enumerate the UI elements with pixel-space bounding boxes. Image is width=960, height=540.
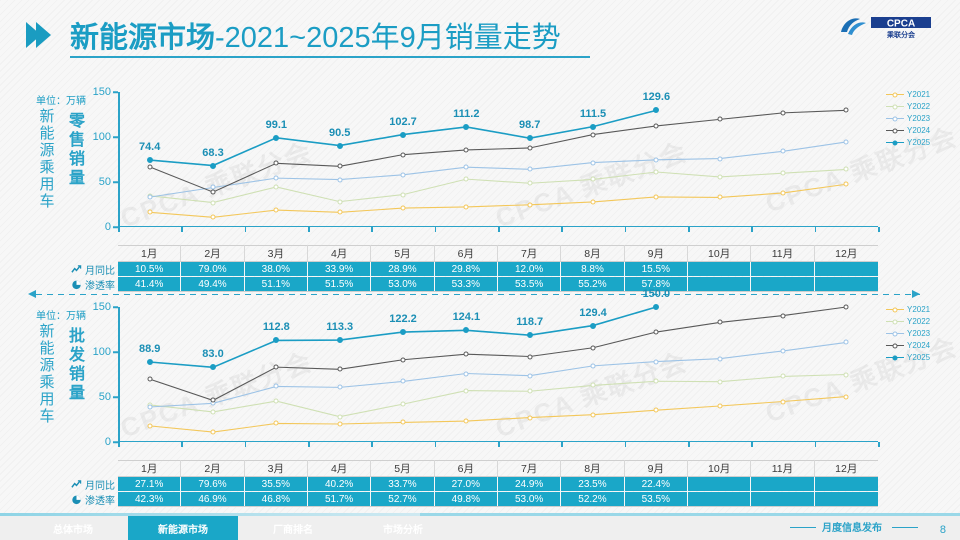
table-header-cell: 12月 [815,245,878,261]
table-cell: 41.4% [118,277,181,291]
data-point-y2025 [337,143,343,149]
table-row-label-text: 渗透率 [85,277,115,292]
data-point-y2024 [781,313,786,318]
x-axis-tick-mark [245,227,247,232]
table-header-cell: 4月 [308,245,371,261]
table-cell [751,262,814,276]
legend-item-y2022[interactable]: Y2022 [886,100,930,112]
series-line-y2024 [150,110,847,192]
data-point-y2021 [527,202,532,207]
data-point-y2021 [591,412,596,417]
data-point-y2025 [210,364,216,370]
table-row-label: 月同比 [71,477,115,491]
table-header-cell: 4月 [308,460,371,476]
data-label: 112.8 [263,321,290,333]
data-point-y2024 [401,152,406,157]
table-header-row: 1月2月3月4月5月6月7月8月9月10月11月12月 [118,245,878,261]
data-point-y2024 [274,161,279,166]
legend-swatch [886,333,904,334]
data-point-y2023 [147,404,152,409]
legend-item-y2024[interactable]: Y2024 [886,339,930,351]
table-cell: 46.9% [181,492,244,506]
svg-text:乘联分会: 乘联分会 [886,30,916,39]
table-header-cell: 9月 [625,460,688,476]
table-data-row: 月同比27.1%79.6%35.5%40.2%33.7%27.0%24.9%23… [118,477,878,491]
data-point-y2021 [844,394,849,399]
data-point-y2025 [653,304,659,310]
legend-item-y2021[interactable]: Y2021 [886,88,930,100]
footer-tab-3[interactable]: 厂商排名 [238,516,348,540]
data-point-y2025 [147,157,153,163]
data-point-y2025 [273,135,279,141]
data-point-y2025 [653,107,659,113]
data-point-y2022 [274,184,279,189]
table-header-cell: 6月 [435,245,498,261]
legend-label: Y2021 [907,90,930,99]
table-row-label: 月同比 [71,262,115,276]
data-point-y2022 [781,171,786,176]
data-label: 111.5 [580,108,606,120]
table-row-label-text: 月同比 [85,262,115,277]
legend-label: Y2025 [907,138,930,147]
x-axis-tick-mark [498,442,500,447]
legend-marker [893,104,898,109]
footer-rule-right [892,527,918,528]
table-cell: 51.1% [245,277,308,291]
legend-swatch [886,130,904,131]
section-divider [36,294,920,295]
data-point-y2022 [401,402,406,407]
metrics-table: 1月2月3月4月5月6月7月8月9月10月11月12月月同比10.5%79.0%… [118,245,878,291]
data-point-y2025 [400,329,406,335]
data-label: 118.7 [516,316,543,328]
svg-text:CPCA: CPCA [887,18,915,29]
data-label: 88.9 [139,343,160,355]
data-point-y2025 [463,327,469,333]
vertical-label-metric: 批发销量 [64,327,90,403]
data-point-y2025 [273,337,279,343]
legend-item-y2021[interactable]: Y2021 [886,303,930,315]
legend-item-y2023[interactable]: Y2023 [886,327,930,339]
data-point-y2022 [717,174,722,179]
slide: 新能源市场-2021~2025年9月销量走势 CPCA 乘联分会 CPCA 乘联… [0,0,960,540]
table-bottom-rule [118,291,878,292]
y-axis-tick-label: 0 [105,436,111,448]
data-point-y2023 [527,167,532,172]
series-line-y2022 [150,375,847,417]
table-cell: 42.3% [118,492,181,506]
table-cell [688,277,751,291]
table-header-cell: 7月 [498,245,561,261]
x-axis-tick-mark [561,227,563,232]
table-header-cell: 9月 [625,245,688,261]
data-point-y2022 [211,200,216,205]
table-cell: 28.9% [371,262,434,276]
x-axis-tick-mark [308,442,310,447]
legend-marker [893,140,898,145]
y-axis-tick-label: 100 [93,131,111,143]
data-point-y2023 [274,384,279,389]
legend-marker [893,331,898,336]
table-header-cell: 1月 [118,460,181,476]
data-point-y2024 [147,164,152,169]
data-point-y2023 [147,195,152,200]
y-axis-tick-label: 150 [93,86,111,98]
table-cell [815,277,878,291]
table-cell: 33.9% [308,262,371,276]
table-header-cell: 5月 [371,245,434,261]
x-axis-tick-mark [181,227,183,232]
table-cell: 38.0% [245,262,308,276]
table-header-cell: 3月 [245,245,308,261]
data-point-y2024 [337,164,342,169]
table-header-cell: 6月 [435,460,498,476]
page-title-rest: -2021~2025年9月销量走势 [215,22,561,54]
data-label: 74.4 [139,141,160,153]
page-title-bold: 新能源市场 [70,22,215,54]
chart-series-layer [118,307,878,442]
table-cell: 79.0% [181,262,244,276]
data-point-y2023 [337,177,342,182]
data-point-y2024 [717,117,722,122]
legend-swatch [886,106,904,107]
table-header-cell: 10月 [688,245,751,261]
x-axis-tick-mark [815,442,817,447]
table-cell [751,277,814,291]
pie-chart-icon [71,279,82,290]
table-header-cell: 8月 [561,245,624,261]
table-header-cell: 1月 [118,245,181,261]
chart-plot-area: 05010015074.468.399.190.5102.7111.298.71… [118,92,878,227]
table-cell: 22.4% [625,477,688,491]
x-axis-tick-mark [308,227,310,232]
data-point-y2022 [211,409,216,414]
x-axis-tick-mark [245,442,247,447]
unit-label: 单位：万辆 [36,92,86,107]
legend-label: Y2024 [907,341,930,350]
chart-plot-area: 05010015088.983.0112.8113.3122.2124.1118… [118,307,878,442]
legend-swatch [886,118,904,119]
title-underline [70,56,590,58]
table-cell: 52.2% [561,492,624,506]
table-header-cell: 11月 [751,245,814,261]
data-point-y2021 [654,194,659,199]
data-point-y2021 [211,215,216,220]
series-line-y2022 [150,169,847,202]
legend-item-y2025[interactable]: Y2025 [886,351,930,363]
y-axis-tick-label: 50 [99,391,111,403]
data-point-y2022 [527,181,532,186]
table-cell: 46.8% [245,492,308,506]
table-header-cell: 5月 [371,460,434,476]
series-line-y2023 [150,342,847,407]
legend-swatch [886,321,904,322]
table-row-label-text: 渗透率 [85,492,115,507]
data-point-y2022 [401,192,406,197]
table-bottom-rule [118,506,878,507]
data-label: 122.2 [389,313,417,325]
table-header-cell: 11月 [751,460,814,476]
x-axis-tick-mark [688,227,690,232]
data-label: 111.2 [453,108,479,120]
table-data-row: 月同比10.5%79.0%38.0%33.9%28.9%29.8%12.0%8.… [118,262,878,276]
data-point-y2024 [274,365,279,370]
table-cell: 23.5% [561,477,624,491]
data-label: 98.7 [519,119,540,131]
data-label: 90.5 [329,127,350,139]
data-point-y2022 [591,383,596,388]
x-axis-tick-mark [815,227,817,232]
table-cell [815,492,878,506]
table-cell: 55.2% [561,277,624,291]
table-cell [751,492,814,506]
data-point-y2022 [717,379,722,384]
table-cell: 8.8% [561,262,624,276]
data-point-y2022 [654,379,659,384]
data-point-y2025 [210,163,216,169]
data-point-y2021 [337,422,342,427]
table-header-cell: 3月 [245,460,308,476]
data-point-y2025 [400,132,406,138]
data-point-y2023 [464,165,469,170]
footer-tab-1[interactable]: 总体市场 [18,516,128,540]
data-label: 102.7 [389,116,417,128]
data-label: 129.6 [643,91,671,103]
pie-chart-icon [71,494,82,505]
data-point-y2025 [337,337,343,343]
table-header-cell: 10月 [688,460,751,476]
table-data-row: 渗透率42.3%46.9%46.8%51.7%52.7%49.8%53.0%52… [118,492,878,506]
table-cell [688,492,751,506]
data-point-y2021 [717,404,722,409]
x-axis-tick-mark [751,227,753,232]
data-point-y2025 [147,359,153,365]
series-line-y2021 [150,397,847,433]
legend-item-y2025[interactable]: Y2025 [886,136,930,148]
legend-marker [893,128,898,133]
data-point-y2024 [654,330,659,335]
data-point-y2021 [844,182,849,187]
legend-marker [893,355,898,360]
data-point-y2024 [654,123,659,128]
table-cell: 53.5% [498,277,561,291]
vertical-label-metric: 零售销量 [64,112,90,188]
data-label: 129.4 [579,307,607,319]
data-point-y2024 [591,345,596,350]
chevron-double-right-icon [26,22,51,48]
legend-swatch [886,142,904,143]
data-point-y2024 [527,354,532,359]
data-point-y2022 [464,388,469,393]
data-point-y2023 [844,340,849,345]
data-point-y2024 [464,147,469,152]
y-axis-tick-label: 0 [105,221,111,233]
data-point-y2024 [211,190,216,195]
data-point-y2022 [337,414,342,419]
data-point-y2021 [527,415,532,420]
data-point-y2021 [464,204,469,209]
footer-tab-2[interactable]: 新能源市场 [128,516,238,540]
x-axis-tick-mark [878,227,880,232]
legend-label: Y2024 [907,126,930,135]
data-point-y2024 [147,377,152,382]
x-axis-tick-mark [498,227,500,232]
data-point-y2023 [464,371,469,376]
x-axis-tick-mark [751,442,753,447]
legend-label: Y2022 [907,102,930,111]
data-point-y2021 [654,408,659,413]
x-axis-tick-mark [625,227,627,232]
table-data-row: 渗透率41.4%49.4%51.1%51.5%53.0%53.3%53.5%55… [118,277,878,291]
data-label: 150.0 [643,288,671,300]
legend-marker [893,319,898,324]
data-label: 99.1 [266,119,287,131]
data-point-y2024 [844,108,849,113]
data-point-y2023 [591,363,596,368]
table-header-cell: 8月 [561,460,624,476]
data-point-y2022 [781,374,786,379]
data-point-y2022 [844,372,849,377]
data-point-y2023 [781,348,786,353]
table-cell: 15.5% [625,262,688,276]
vertical-label-category: 新能源乘用车 [34,108,60,210]
table-cell: 53.5% [625,492,688,506]
legend-swatch [886,309,904,310]
table-cell: 51.7% [308,492,371,506]
table-header-cell: 7月 [498,460,561,476]
data-point-y2021 [274,208,279,213]
table-row-label: 渗透率 [71,492,115,506]
legend-label: Y2023 [907,114,930,123]
data-point-y2024 [781,110,786,115]
data-point-y2022 [654,170,659,175]
data-point-y2023 [717,356,722,361]
legend-item-y2023[interactable]: Y2023 [886,112,930,124]
y-axis-tick-label: 150 [93,301,111,313]
x-axis-tick-mark [561,442,563,447]
data-point-y2025 [590,323,596,329]
data-point-y2025 [527,135,533,141]
data-point-y2021 [401,206,406,211]
table-cell: 27.1% [118,477,181,491]
metrics-table: 1月2月3月4月5月6月7月8月9月10月11月12月月同比27.1%79.6%… [118,460,878,506]
footer-tab-4[interactable]: 市场分析 [348,516,458,540]
data-point-y2024 [337,367,342,372]
data-point-y2022 [591,177,596,182]
data-point-y2023 [337,385,342,390]
table-cell: 52.7% [371,492,434,506]
data-point-y2021 [274,421,279,426]
table-cell: 51.5% [308,277,371,291]
table-cell: 49.4% [181,277,244,291]
data-point-y2024 [211,398,216,403]
table-header-cell: 2月 [181,245,244,261]
table-header-cell: 2月 [181,460,244,476]
arrow-right-icon [912,290,920,298]
data-point-y2021 [401,420,406,425]
data-point-y2023 [654,157,659,162]
arrow-left-icon [28,290,36,298]
table-cell: 40.2% [308,477,371,491]
table-cell: 33.7% [371,477,434,491]
table-cell [688,262,751,276]
data-point-y2024 [527,145,532,150]
data-point-y2023 [781,149,786,154]
legend-marker [893,92,898,97]
table-row-label-text: 月同比 [85,477,115,492]
x-axis-tick-mark [371,442,373,447]
legend-label: Y2021 [907,305,930,314]
table-cell: 12.0% [498,262,561,276]
data-point-y2021 [147,423,152,428]
data-point-y2025 [590,124,596,130]
legend-swatch [886,357,904,358]
table-cell: 24.9% [498,477,561,491]
legend-item-y2024[interactable]: Y2024 [886,124,930,136]
table-cell: 53.3% [435,277,498,291]
data-label: 124.1 [453,311,481,323]
legend-item-y2022[interactable]: Y2022 [886,315,930,327]
x-axis-tick-mark [371,227,373,232]
x-axis-tick-mark [878,442,880,447]
table-header-cell: 12月 [815,460,878,476]
footer-rule-left [790,527,816,528]
data-point-y2021 [591,199,596,204]
footer-publisher: 月度信息发布 [822,519,882,534]
data-point-y2023 [274,176,279,181]
table-cell [815,477,878,491]
x-axis-tick-mark [118,442,120,447]
data-point-y2024 [717,320,722,325]
x-axis-tick-mark [435,227,437,232]
data-point-y2023 [527,373,532,378]
data-label: 113.3 [326,321,353,333]
data-point-y2023 [654,359,659,364]
series-line-y2021 [150,184,847,217]
table-cell: 49.8% [435,492,498,506]
table-cell: 35.5% [245,477,308,491]
table-cell: 29.8% [435,262,498,276]
legend-label: Y2025 [907,353,930,362]
table-cell [751,477,814,491]
table-cell: 53.0% [498,492,561,506]
data-point-y2024 [401,357,406,362]
chart-series-layer [118,92,878,227]
data-point-y2022 [844,167,849,172]
data-point-y2022 [464,177,469,182]
data-point-y2023 [717,156,722,161]
legend-label: Y2022 [907,317,930,326]
chart-legend: Y2021Y2022Y2023Y2024Y2025 [886,88,930,148]
y-axis-tick-label: 50 [99,176,111,188]
x-axis-tick-mark [688,442,690,447]
legend-label: Y2023 [907,329,930,338]
table-cell: 79.6% [181,477,244,491]
table-cell: 53.0% [371,277,434,291]
data-point-y2021 [337,210,342,215]
data-point-y2023 [401,172,406,177]
data-point-y2023 [401,379,406,384]
x-axis-tick-mark [118,227,120,232]
table-cell [815,262,878,276]
series-line-y2024 [150,307,847,400]
slide-header: 新能源市场-2021~2025年9月销量走势 CPCA 乘联分会 [0,0,960,70]
table-cell: 27.0% [435,477,498,491]
data-point-y2021 [147,210,152,215]
data-point-y2022 [527,389,532,394]
trend-line-icon [71,479,82,490]
data-point-y2021 [781,190,786,195]
